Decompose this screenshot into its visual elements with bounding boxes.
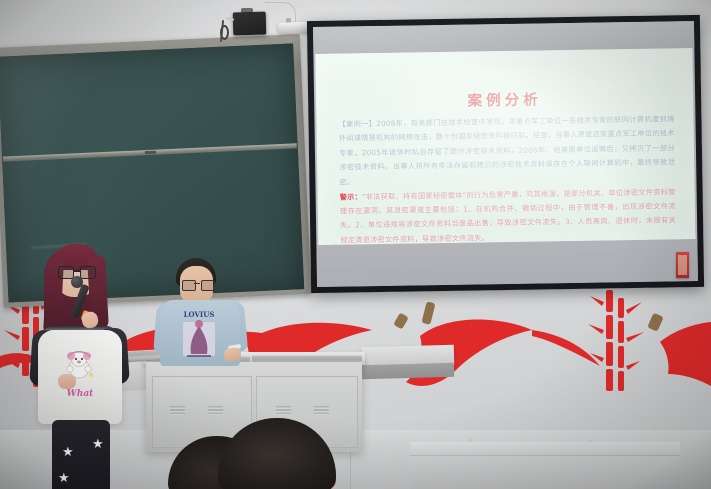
presenter-hand-resting xyxy=(58,374,76,389)
vent-slots xyxy=(208,406,223,415)
wall-decoration-inner xyxy=(678,255,687,275)
step-riser xyxy=(410,455,680,489)
leggings-star-print: ★ xyxy=(62,446,74,459)
seated-glasses-icon xyxy=(182,280,213,289)
slide-warning-block: 警示："非法获取、持有国家秘密载体"的行为危害严重，究其根源，是部分机关、单位涉… xyxy=(340,185,677,247)
vent-slots xyxy=(276,406,291,415)
vent-slots xyxy=(170,406,185,415)
leggings-star-print: ★ xyxy=(58,472,70,485)
leggings-star-print: ★ xyxy=(92,438,104,451)
wall-speaker-icon xyxy=(233,12,267,36)
slide-warning-label: 警示： xyxy=(340,192,363,201)
vent-slots xyxy=(314,406,329,415)
seated-shirt-graphic xyxy=(177,312,221,358)
projection-screen[interactable]: 案例分析 【案例一】2008年，有关部门在技术检查中发现，某重点军工单位一名技术… xyxy=(307,15,704,293)
cable-loop xyxy=(220,25,229,40)
presenter-shirt-text: What xyxy=(58,389,102,400)
slide-title: 案例分析 xyxy=(316,86,693,113)
slide-warning-text: "非法获取、持有国家秘密载体"的行为危害严重，究其根源，是部分机关、单位涉密文件… xyxy=(340,187,676,244)
chalk-rail-clip xyxy=(145,151,156,154)
projected-slide: 案例分析 【案例一】2008年，有关部门在技术检查中发现，某重点军工单位一名技术… xyxy=(315,48,695,245)
screen-surface: 案例分析 【案例一】2008年，有关部门在技术检查中发现，某重点军工单位一名技术… xyxy=(313,21,698,287)
step-seam xyxy=(410,455,680,456)
step-top-surface xyxy=(410,442,680,456)
slide-body-text: 【案例一】2008年，有关部门在技术检查中发现，某重点军工单位一名技术专家的联网… xyxy=(338,112,675,189)
side-desk-right-front xyxy=(362,363,454,379)
classroom-scene: 案例分析 【案例一】2008年，有关部门在技术检查中发现，某重点军工单位一名技术… xyxy=(0,0,711,489)
wall-decoration-right xyxy=(676,252,689,278)
